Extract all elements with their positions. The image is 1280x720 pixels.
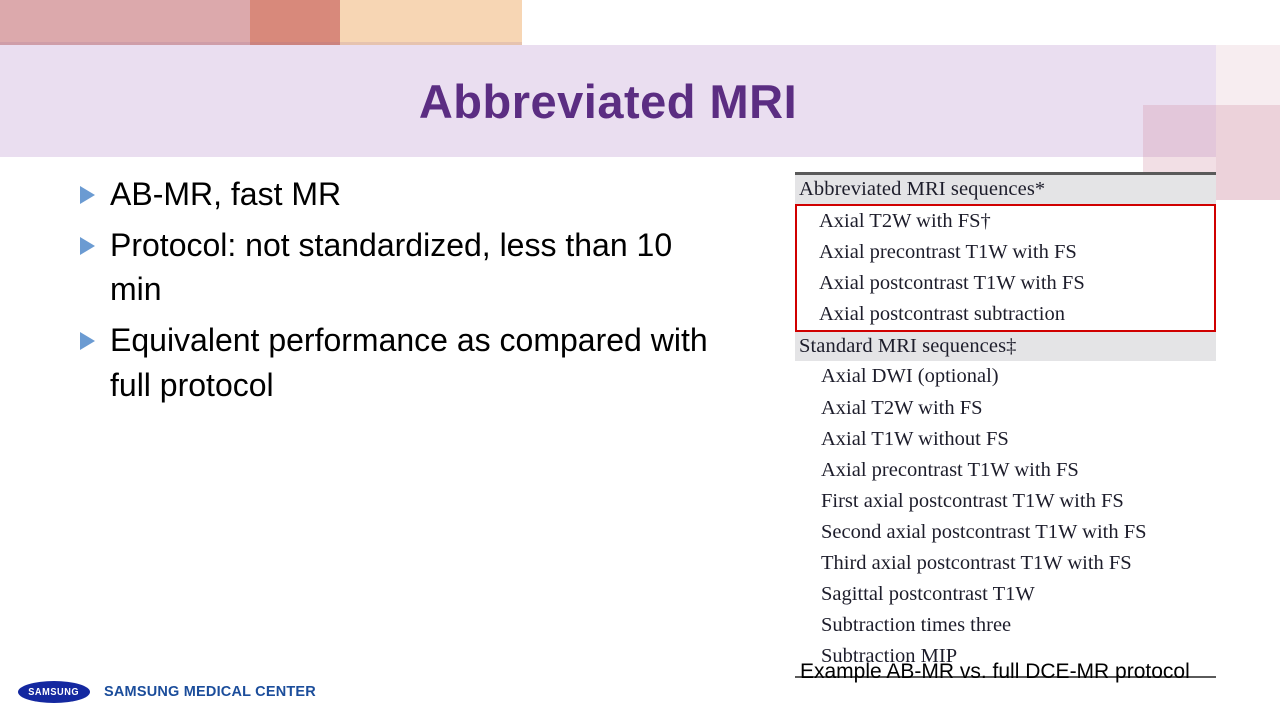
list-item: AB-MR, fast MR — [80, 172, 710, 216]
table-row: Axial postcontrast T1W with FS — [797, 268, 1214, 299]
table-caption: Example AB-MR vs. full DCE-MR protocol — [800, 660, 1270, 684]
table-row: Second axial postcontrast T1W with FS — [795, 517, 1216, 548]
triangle-bullet-icon — [80, 318, 110, 350]
table-row: Axial precontrast T1W with FS — [797, 237, 1214, 268]
triangle-bullet-icon — [80, 172, 110, 204]
table-row: Sagittal postcontrast T1W — [795, 579, 1216, 610]
samsung-logo-text: SAMSUNG — [29, 687, 80, 698]
page-title: Abbreviated MRI — [0, 45, 1216, 157]
footer-logo: SAMSUNG SAMSUNG MEDICAL CENTER — [18, 681, 316, 703]
table-row: Axial T2W with FS† — [797, 206, 1214, 237]
table-row: Subtraction times three — [795, 610, 1216, 641]
table-row: Axial T2W with FS — [795, 393, 1216, 424]
table-header-standard: Standard MRI sequences‡ — [795, 332, 1216, 361]
standard-sequence-rows: Axial DWI (optional) Axial T2W with FS A… — [795, 361, 1216, 672]
table-row: Third axial postcontrast T1W with FS — [795, 548, 1216, 579]
samsung-logo-icon: SAMSUNG — [18, 681, 90, 703]
table-row: Axial precontrast T1W with FS — [795, 455, 1216, 486]
table-header-abbreviated: Abbreviated MRI sequences* — [795, 175, 1216, 204]
table-row: Axial DWI (optional) — [795, 361, 1216, 392]
table-row: First axial postcontrast T1W with FS — [795, 486, 1216, 517]
bullet-text: AB-MR, fast MR — [110, 172, 341, 216]
bullet-text: Equivalent performance as compared with … — [110, 318, 710, 406]
list-item: Protocol: not standardized, less than 10… — [80, 223, 710, 311]
slide-canvas: Abbreviated MRI AB-MR, fast MR Protocol:… — [0, 0, 1280, 720]
table-row: Axial T1W without FS — [795, 424, 1216, 455]
bullet-list: AB-MR, fast MR Protocol: not standardize… — [80, 172, 710, 414]
list-item: Equivalent performance as compared with … — [80, 318, 710, 406]
abbreviated-highlight-box: Axial T2W with FS† Axial precontrast T1W… — [795, 204, 1216, 332]
bullet-text: Protocol: not standardized, less than 10… — [110, 223, 710, 311]
table-row: Axial postcontrast subtraction — [797, 299, 1214, 330]
organization-name: SAMSUNG MEDICAL CENTER — [104, 684, 316, 700]
triangle-bullet-icon — [80, 223, 110, 255]
mri-sequence-table: Abbreviated MRI sequences* Axial T2W wit… — [795, 172, 1216, 678]
